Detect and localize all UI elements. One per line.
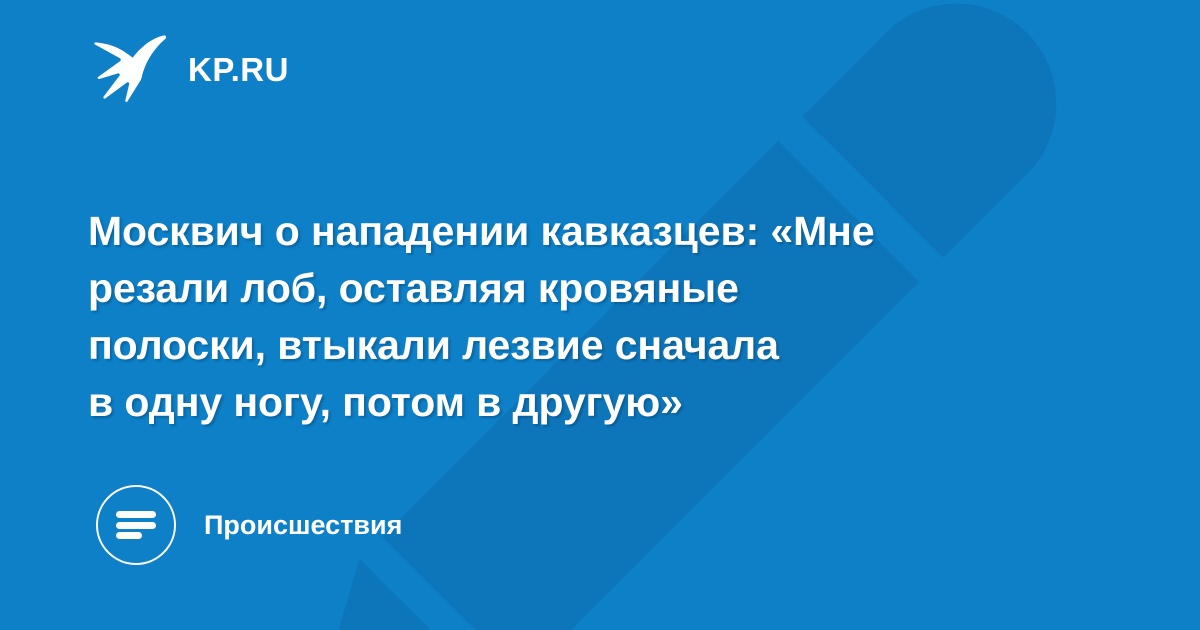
headline-line-4: в одну ногу, потом в другую»: [88, 374, 1098, 431]
headline-line-1: Москвич о нападении кавказцев: «Мне: [88, 203, 1098, 260]
category-badge[interactable]: [96, 485, 176, 565]
headline-line-3: полоски, втыкали лезвие сначала: [88, 317, 1098, 374]
swallow-bird-icon: [88, 33, 166, 105]
list-line-3: [116, 532, 142, 539]
headline: Москвич о нападении кавказцев: «Мне реза…: [88, 203, 1098, 431]
category-label: Происшествия: [204, 512, 402, 539]
brand-name: KP.RU: [188, 53, 289, 86]
category-section[interactable]: Происшествия: [96, 484, 402, 566]
share-card: KP.RU Москвич о нападении кавказцев: «Мн…: [0, 0, 1200, 630]
site-header: KP.RU: [88, 34, 289, 104]
list-lines-icon: [116, 511, 156, 539]
list-line-1: [116, 511, 156, 518]
list-line-2: [116, 522, 156, 529]
headline-line-2: резали лоб, оставляя кровяные: [88, 260, 1098, 317]
